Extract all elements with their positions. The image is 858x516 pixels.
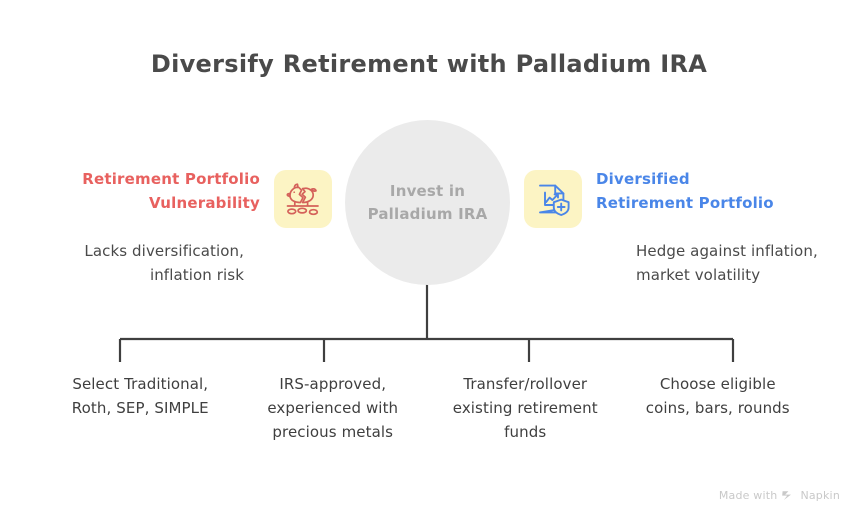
step-item-4[interactable]: Choose eligible coins, bars, rounds [622,372,815,444]
broken-piggy-bank-badge[interactable] [274,170,332,228]
napkin-logo-icon [782,490,795,501]
step-item-3[interactable]: Transfer/rollover existing retirement fu… [429,372,622,444]
branch-right: Diversified Retirement Portfolio Hedge a… [524,168,834,287]
document-chart-shield-icon [533,179,573,219]
central-node[interactable]: Invest in Palladium IRA [345,120,510,285]
document-chart-shield-badge[interactable] [524,170,582,228]
page-title: Diversify Retirement with Palladium IRA [0,50,858,78]
branch-left: Retirement Portfolio Vulnerability [22,168,332,287]
steps-row: Select Traditional, Roth, SEP, SIMPLE IR… [44,372,814,444]
broken-piggy-bank-icon [283,179,323,219]
step-item-2[interactable]: IRS-approved, experienced with precious … [237,372,430,444]
branch-left-body: Lacks diversification, inflation risk [22,240,332,287]
watermark-brand: Napkin [800,489,840,502]
diagram-canvas: Diversify Retirement with Palladium IRA … [0,0,858,516]
branch-right-body: Hedge against inflation, market volatili… [524,240,834,287]
branch-right-heading: Diversified Retirement Portfolio [596,168,786,215]
central-node-label: Invest in Palladium IRA [345,180,510,226]
step-item-1[interactable]: Select Traditional, Roth, SEP, SIMPLE [44,372,237,444]
watermark-prefix: Made with [719,489,778,502]
branch-right-header: Diversified Retirement Portfolio [524,168,834,228]
branch-left-heading: Retirement Portfolio Vulnerability [70,168,260,215]
napkin-watermark: Made with Napkin [719,489,840,502]
branch-left-header: Retirement Portfolio Vulnerability [22,168,332,228]
